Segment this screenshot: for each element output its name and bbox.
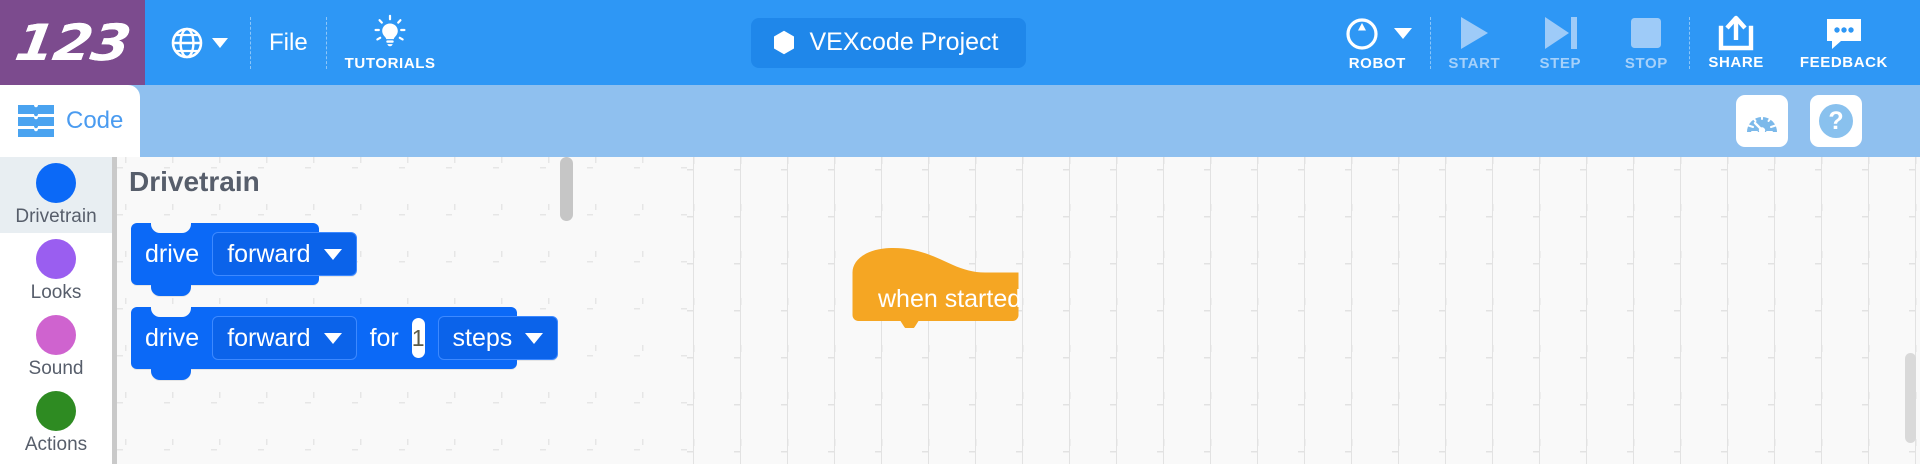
code-workspace[interactable]: when started — [687, 157, 1920, 464]
start-button[interactable]: START — [1431, 0, 1517, 85]
robot-button[interactable]: ROBOT — [1324, 0, 1430, 85]
palette-section-title: Drivetrain — [129, 166, 260, 198]
tab-code[interactable]: Code — [0, 85, 140, 157]
project-title-area: VEXcode Project — [454, 0, 1325, 85]
category-rail: Drivetrain Looks Sound Actions — [0, 157, 112, 464]
play-icon — [1457, 13, 1491, 53]
stop-label: STOP — [1625, 55, 1668, 72]
palette-block-drive-direction[interactable]: drive forward — [131, 223, 319, 285]
stop-button[interactable]: STOP — [1603, 0, 1689, 85]
brand-logo-area: 123 — [0, 0, 145, 85]
chevron-down-icon — [324, 249, 342, 260]
hexagon-icon — [773, 30, 795, 55]
file-menu-label: File — [269, 29, 308, 57]
block-palette[interactable]: Drivetrain drive forward drive forward f… — [112, 157, 687, 464]
robot-label: ROBOT — [1349, 55, 1406, 72]
stop-icon — [1630, 13, 1662, 53]
sidebar-item-looks[interactable]: Looks — [0, 233, 112, 309]
block-dropdown-value: forward — [227, 240, 310, 269]
share-button[interactable]: SHARE — [1690, 0, 1782, 85]
chevron-down-icon[interactable] — [1394, 28, 1412, 39]
block-text-drive: drive — [145, 324, 199, 353]
block-number-input[interactable]: 1 — [412, 318, 425, 358]
block-text-drive: drive — [145, 240, 199, 269]
chevron-down-icon — [324, 333, 342, 344]
sidebar-item-sound[interactable]: Sound — [0, 309, 112, 385]
sub-toolbar-right-group: ? — [1736, 85, 1862, 157]
step-label: STEP — [1540, 55, 1582, 72]
share-icon — [1715, 14, 1757, 52]
step-button[interactable]: STEP — [1517, 0, 1603, 85]
block-dropdown-direction[interactable]: forward — [212, 232, 356, 276]
sidebar-item-drivetrain[interactable]: Drivetrain — [0, 157, 112, 233]
blocks-icon — [16, 104, 56, 138]
lightbulb-icon — [371, 14, 409, 53]
sidebar-item-label: Sound — [29, 358, 84, 380]
palette-block-drive-for-steps[interactable]: drive forward for 1 steps — [131, 307, 517, 369]
project-name-text: VEXcode Project — [809, 28, 998, 57]
monitor-button[interactable] — [1736, 95, 1788, 147]
start-label: START — [1448, 55, 1500, 72]
palette-scrollbar[interactable] — [560, 157, 573, 221]
block-dropdown-units[interactable]: steps — [438, 316, 559, 360]
run-controls-group: ROBOT START STEP — [1324, 0, 1920, 85]
block-text-for: for — [370, 324, 399, 353]
sidebar-item-label: Drivetrain — [15, 206, 96, 228]
sidebar-item-actions[interactable]: Actions — [0, 385, 112, 461]
sub-toolbar: Code — [0, 85, 1920, 157]
share-label: SHARE — [1708, 54, 1764, 71]
robot-icon — [1342, 13, 1382, 53]
step-icon — [1542, 13, 1578, 53]
feedback-button[interactable]: FEEDBACK — [1782, 0, 1906, 85]
tutorials-button[interactable]: TUTORIALS — [327, 0, 454, 85]
project-name-button[interactable]: VEXcode Project — [751, 18, 1026, 68]
chevron-down-icon — [212, 38, 228, 48]
tab-code-label: Code — [66, 107, 123, 135]
gauge-icon — [1745, 106, 1779, 136]
file-menu-button[interactable]: File — [251, 0, 326, 85]
feedback-label: FEEDBACK — [1800, 54, 1888, 71]
sidebar-item-label: Actions — [25, 434, 87, 456]
block-dropdown-value: forward — [227, 324, 310, 353]
help-button[interactable]: ? — [1810, 95, 1862, 147]
workspace-block-label: when started — [878, 285, 1021, 314]
sidebar-item-label: Looks — [31, 282, 82, 304]
question-mark-icon: ? — [1819, 104, 1853, 138]
editor-body: Drivetrain Looks Sound Actions Drivetrai… — [0, 157, 1920, 464]
brand-logo-text: 123 — [11, 14, 134, 72]
top-toolbar: 123 File — [0, 0, 1920, 85]
category-color-dot — [36, 391, 76, 431]
category-color-dot — [36, 163, 76, 203]
category-color-dot — [36, 315, 76, 355]
globe-icon — [171, 27, 203, 59]
block-dropdown-direction[interactable]: forward — [212, 316, 356, 360]
workspace-vertical-scrollbar[interactable] — [1905, 353, 1916, 443]
chevron-down-icon — [525, 333, 543, 344]
tutorials-label: TUTORIALS — [345, 55, 436, 72]
block-dropdown-value: steps — [453, 324, 513, 353]
language-selector[interactable] — [145, 0, 250, 85]
category-color-dot — [36, 239, 76, 279]
feedback-icon — [1823, 14, 1865, 52]
